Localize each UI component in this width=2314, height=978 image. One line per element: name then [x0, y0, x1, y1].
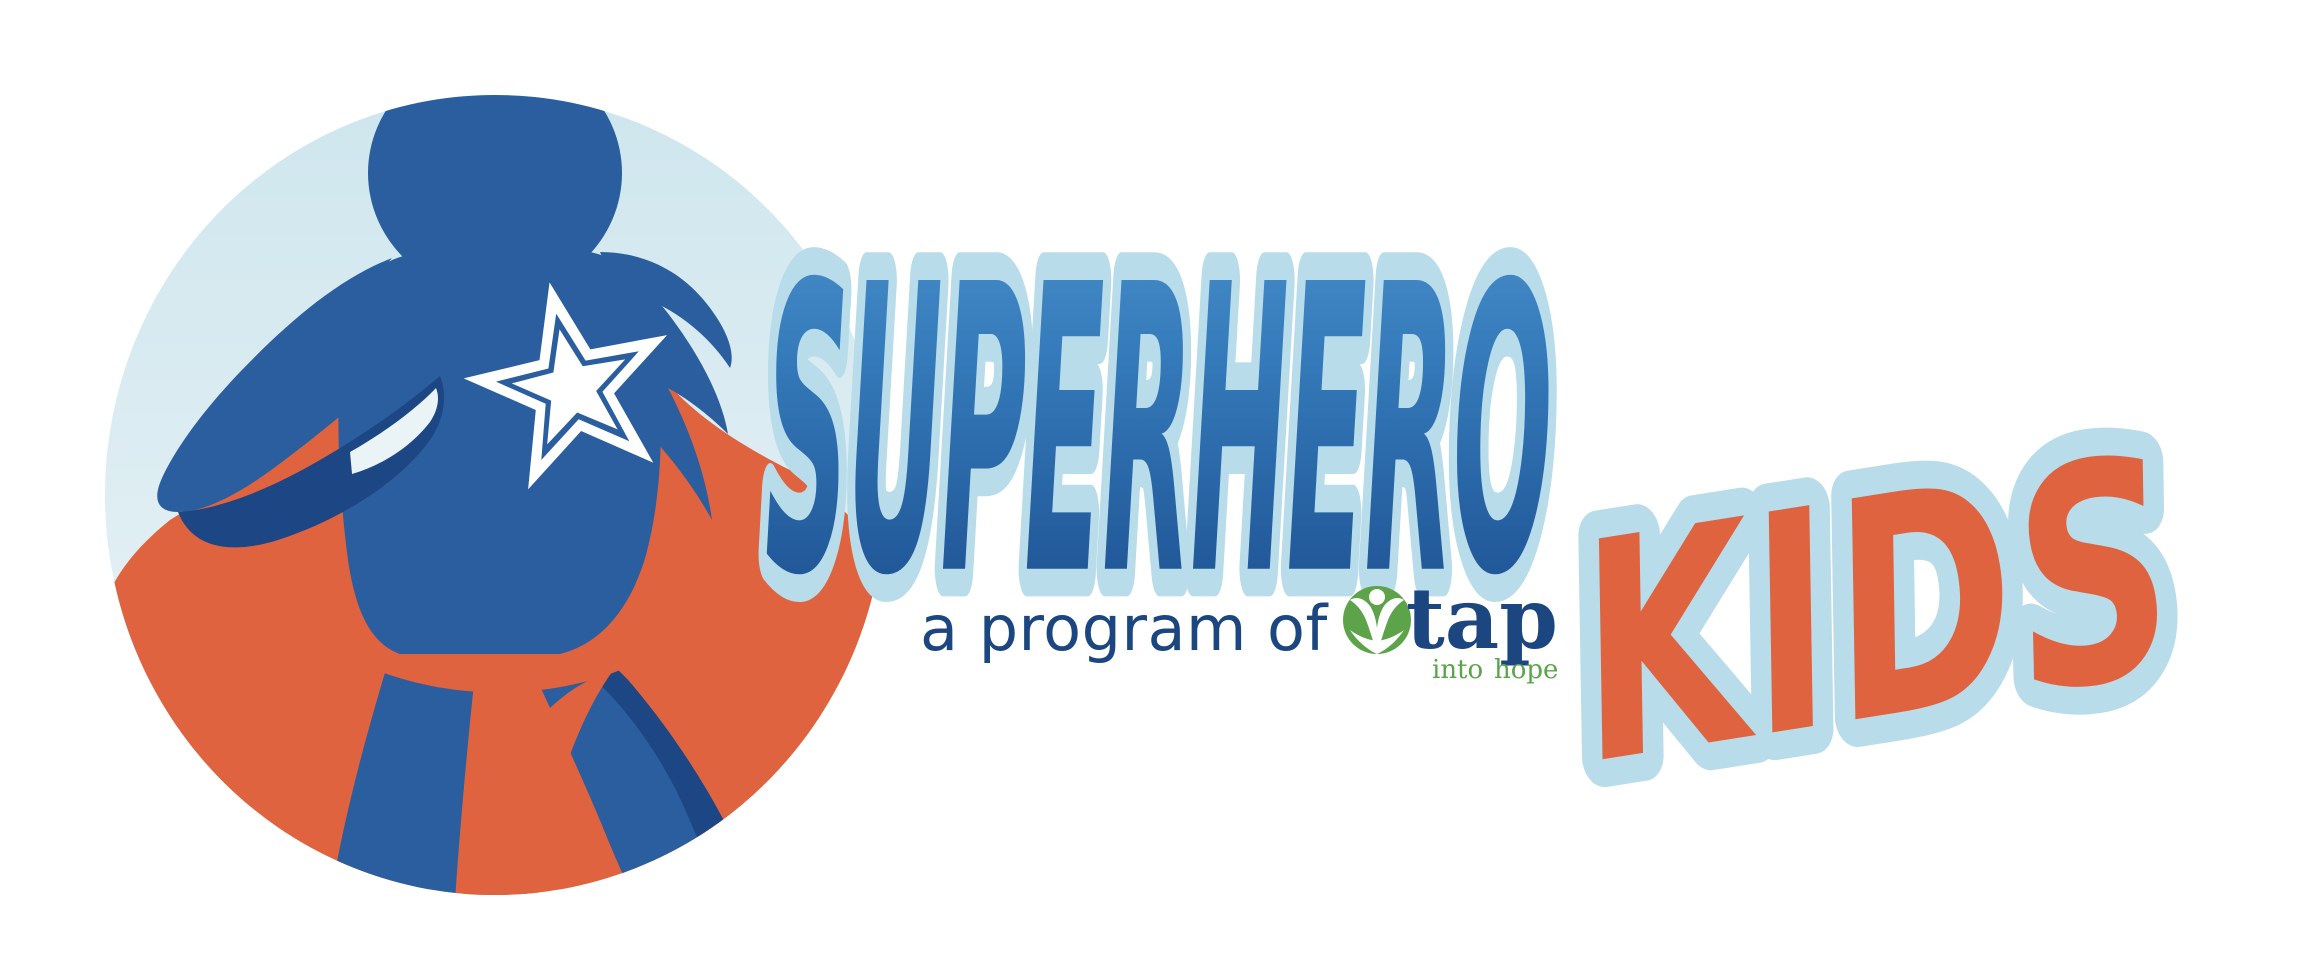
- tap-into-text: into: [1432, 655, 1483, 685]
- logo-canvas: SUPERHERO SUPERHERO KIDS KIDS a program …: [0, 0, 2314, 978]
- tap-hope-text: hope: [1494, 655, 1558, 685]
- tap-wordmark-text: tap: [1406, 569, 1558, 668]
- tap-into-hope-logo: tap into hope: [1343, 569, 1558, 685]
- kids-wordmark: KIDS KIDS: [1555, 392, 2202, 831]
- tap-leaf-icon: [1343, 586, 1411, 654]
- head: [368, 51, 622, 295]
- superhero-kids-logo: SUPERHERO SUPERHERO KIDS KIDS a program …: [0, 0, 2314, 978]
- tagline-text: a program of: [920, 592, 1329, 665]
- kids-text-fill: KIDS: [1555, 392, 2202, 831]
